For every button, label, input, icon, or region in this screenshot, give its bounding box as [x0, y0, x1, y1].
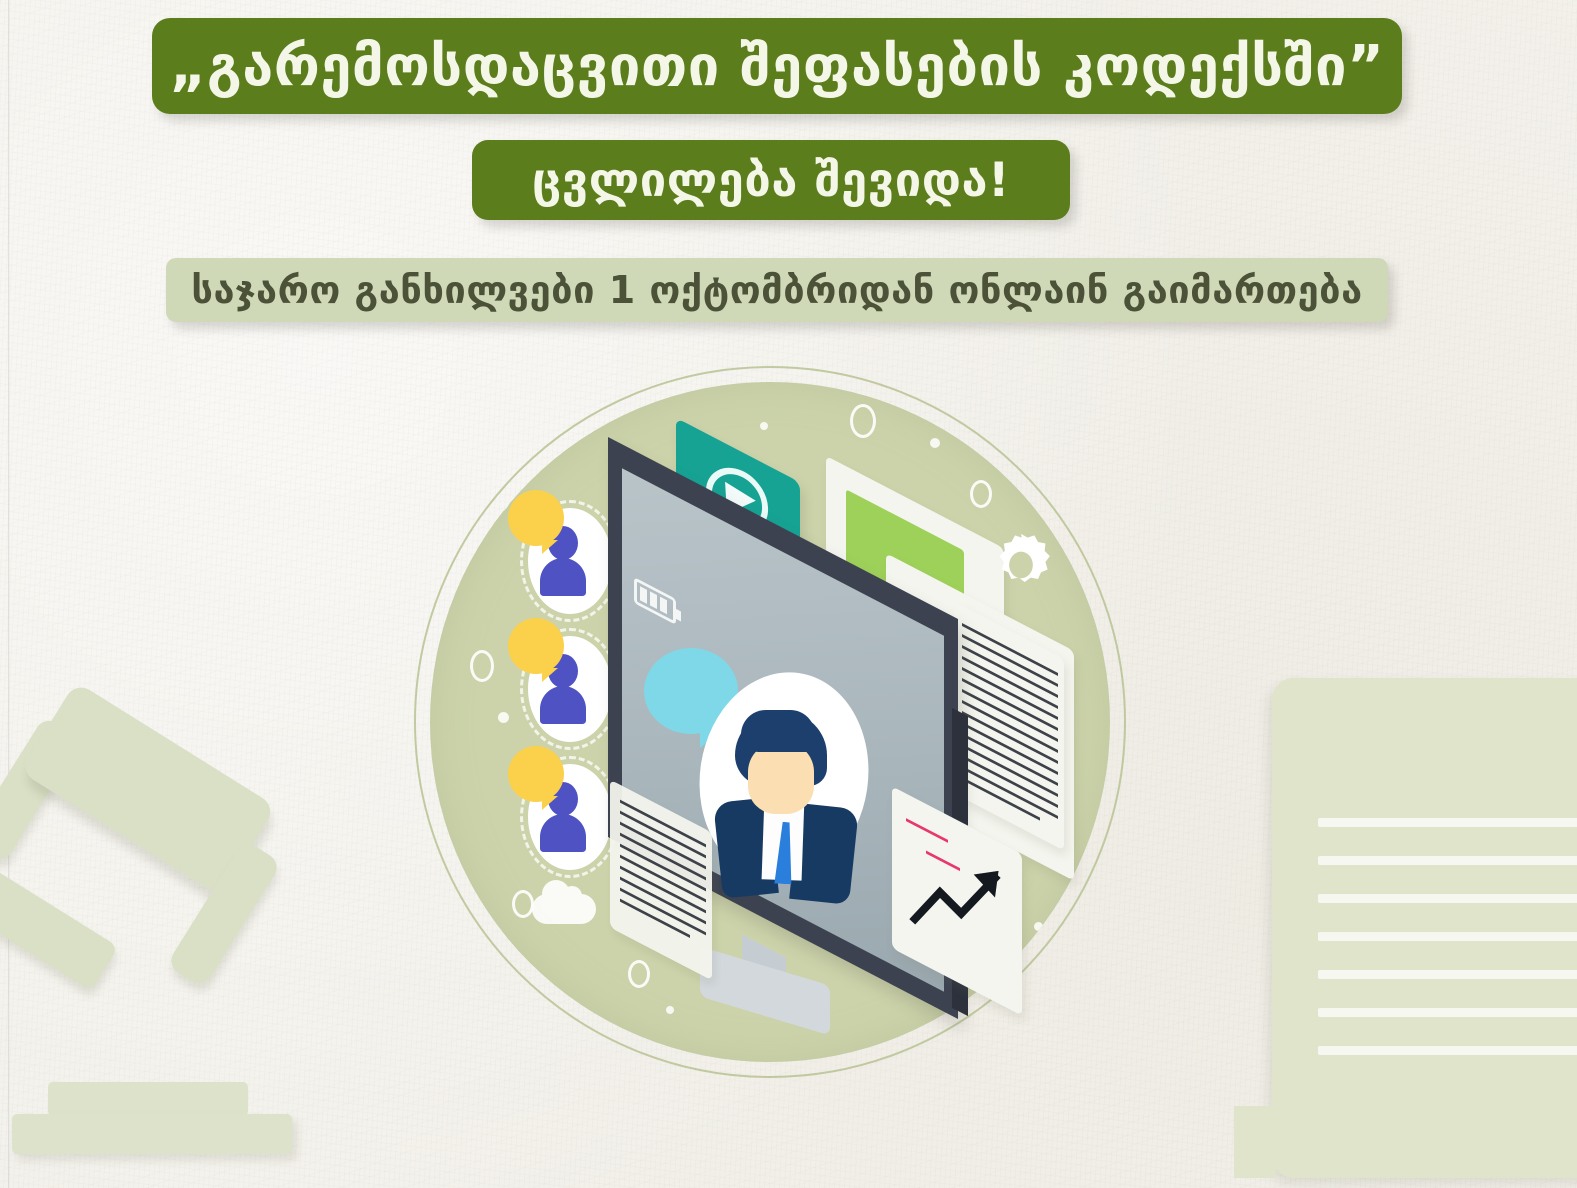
- gavel-handle: [0, 841, 119, 991]
- decorative-bubble-dot: [666, 1006, 674, 1014]
- gavel-sounding-block-top: [48, 1082, 248, 1116]
- gear-icon: [984, 528, 1058, 602]
- avatar-person-body-icon: [540, 686, 586, 724]
- document-text-line: [1318, 818, 1577, 827]
- avatar-person-body-icon: [540, 558, 586, 596]
- participant-avatar-2: [508, 618, 612, 742]
- headline-text: „გარემოსდაცვითი შეფასების კოდექსში”: [170, 34, 1385, 99]
- headline-banner: „გარემოსდაცვითი შეფასების კოდექსში”: [152, 18, 1402, 114]
- gavel-sounding-block-base: [12, 1114, 292, 1154]
- participant-avatar-1: [508, 490, 612, 614]
- speaker-face: [748, 742, 814, 814]
- document-corner-notch: [1234, 1106, 1276, 1178]
- decorative-bubble-dot: [760, 422, 768, 430]
- decorative-bubble-ring: [850, 404, 876, 438]
- info-banner: საჯარო განხილვები 1 ოქტომბრიდან ონლაინ გ…: [166, 258, 1388, 322]
- document-icon: [1272, 678, 1577, 1178]
- avatar-person-body-icon: [540, 814, 586, 852]
- avatar-speech-badge: [508, 746, 564, 802]
- decorative-bubble-dot: [1034, 922, 1043, 931]
- document-text-line: [1318, 932, 1577, 941]
- trend-arrow-icon: [908, 862, 1018, 942]
- subheadline-text: ცვლილება შევიდა!: [532, 153, 1010, 208]
- document-text-line: [1318, 894, 1577, 903]
- info-text: საჯარო განხილვები 1 ოქტომბრიდან ონლაინ გ…: [191, 268, 1362, 312]
- decorative-bubble-ring: [478, 470, 512, 514]
- decorative-bubble-ring: [970, 480, 992, 508]
- participant-avatar-3: [508, 746, 612, 870]
- document-text-line: [1318, 856, 1577, 865]
- poster-canvas: „გარემოსდაცვითი შეფასების კოდექსში” ცვლი…: [0, 0, 1577, 1188]
- gavel-icon: [0, 700, 320, 1170]
- avatar-speech-badge: [508, 490, 564, 546]
- document-text-line: [1318, 1008, 1577, 1017]
- decorative-bubble-ring: [512, 890, 534, 918]
- decorative-bubble-dot: [930, 438, 940, 448]
- avatar-speech-badge: [508, 618, 564, 674]
- decorative-bubble-ring: [628, 960, 650, 988]
- document-text-line: [1318, 970, 1577, 979]
- cloud-icon: [532, 894, 596, 924]
- document-sheet: [1272, 678, 1577, 1178]
- decorative-bubble-ring: [470, 650, 494, 682]
- document-text-line: [1318, 1046, 1577, 1055]
- subheadline-banner: ცვლილება შევიდა!: [472, 140, 1070, 220]
- speaker-hair-front: [741, 710, 815, 752]
